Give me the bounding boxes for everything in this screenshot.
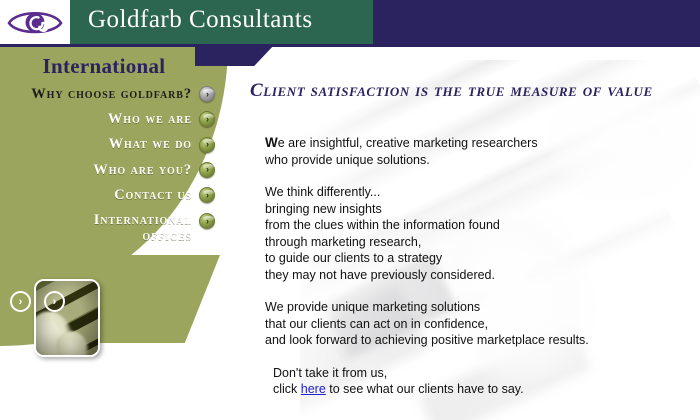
sidebar-item-label: International offices (72, 212, 192, 244)
clients-testimonials-link[interactable]: here (301, 382, 326, 396)
arrow-right-circle-icon[interactable]: › (199, 187, 215, 203)
paragraph-line: e are insightful, creative marketing res… (278, 136, 538, 150)
arrow-right-circle-icon[interactable]: › (199, 111, 215, 127)
paragraph-line: to guide our clients to a strategy (265, 250, 685, 267)
thumbnail-image (36, 281, 98, 355)
sidebar-item-label: Who are you? (93, 162, 192, 178)
closing-line-2-before: click (273, 382, 301, 396)
paragraph-2: We think differently... bringing new ins… (265, 184, 685, 283)
arrow-right-circle-icon[interactable]: › (199, 213, 215, 229)
page-root: Goldfarb Consultants International Why c… (0, 0, 700, 420)
paragraph-1: We are insightful, creative marketing re… (265, 135, 685, 168)
sidebar-item-international-offices[interactable]: International offices › (0, 212, 215, 244)
paragraph-line: We think differently... (265, 184, 685, 201)
sidebar-item-why-choose-goldfarb[interactable]: Why choose goldfarb? › (0, 86, 215, 102)
sidebar-item-label: Who we are (108, 111, 192, 127)
paragraph-line: through marketing research, (265, 234, 685, 251)
carousel-prev-arrow-right-outline-icon[interactable]: › (10, 291, 31, 312)
sidebar-item-what-we-do[interactable]: What we do › (0, 136, 215, 152)
thumbnail-arrow-right-outline-icon[interactable]: › (44, 291, 65, 312)
paragraph-line: from the clues within the information fo… (265, 217, 685, 234)
sidebar-item-who-we-are[interactable]: Who we are › (0, 111, 215, 127)
paragraph-line: bringing new insights (265, 201, 685, 218)
paragraph-3: We provide unique marketing solutions th… (265, 299, 685, 349)
paragraph-line: and look forward to achieving positive m… (265, 332, 685, 349)
arrow-right-circle-icon[interactable]: › (199, 162, 215, 178)
sidebar-nav: Why choose goldfarb? › Who we are › What… (0, 86, 215, 254)
logo-container[interactable] (0, 0, 70, 44)
section-title: International (0, 54, 208, 79)
eye-logo-icon (7, 7, 63, 37)
sidebar-item-contact-us[interactable]: Contact us › (0, 187, 215, 203)
page-title: Client satisfaction is the true measure … (250, 80, 700, 102)
closing-line-2-after: to see what our clients have to say. (326, 382, 524, 396)
sidebar-item-label: What we do (109, 136, 192, 152)
arrow-right-circle-icon[interactable]: › (199, 137, 215, 153)
main-content: Client satisfaction is the true measure … (250, 80, 700, 102)
paragraph-line: who provide unique solutions. (265, 152, 685, 169)
brand-title: Goldfarb Consultants (88, 6, 313, 34)
arrow-right-circle-icon[interactable]: › (199, 86, 215, 102)
closing-paragraph: Don't take it from us, click here to see… (273, 365, 685, 398)
paragraph-line: that our clients can act on in confidenc… (265, 316, 685, 333)
paragraph-line: We provide unique marketing solutions (265, 299, 685, 316)
sidebar-item-who-are-you[interactable]: Who are you? › (0, 162, 215, 178)
dropcap-w: W (265, 135, 278, 150)
closing-line-1: Don't take it from us, (273, 365, 685, 382)
paragraph-line: they may not have previously considered. (265, 267, 685, 284)
sidebar-item-label: Why choose goldfarb? (31, 86, 192, 102)
body-copy: We are insightful, creative marketing re… (265, 135, 685, 414)
sidebar-item-label: Contact us (114, 187, 192, 203)
piano-keys-thumbnail[interactable]: › (34, 279, 100, 357)
